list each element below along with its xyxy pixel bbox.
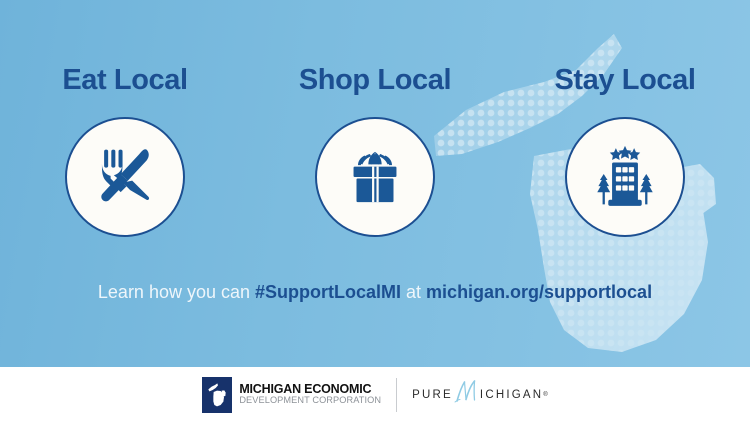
pillar-stay-local: Stay Local (500, 0, 750, 367)
badge-eat-local (65, 117, 185, 237)
tagline-hashtag: #SupportLocalMI (255, 282, 401, 302)
badge-shop-local (315, 117, 435, 237)
pure-michigan-prefix: PURE (412, 389, 453, 401)
tagline-lead: Learn how you can (98, 282, 255, 302)
pillar-title-eat-local: Eat Local (62, 66, 187, 95)
medc-wordmark: MICHIGAN ECONOMIC DEVELOPMENT CORPORATIO… (239, 383, 381, 406)
registered-trademark-icon: ® (543, 392, 547, 398)
badge-stay-local (565, 117, 685, 237)
footer-logo-bar: MICHIGAN ECONOMIC DEVELOPMENT CORPORATIO… (0, 367, 750, 422)
pillar-title-stay-local: Stay Local (554, 66, 695, 95)
pure-michigan-suffix: ICHIGAN (480, 389, 543, 401)
pure-michigan-logo: PURE ICHIGAN ® (412, 377, 548, 412)
pillar-shop-local: Shop Local (250, 0, 500, 367)
pillars-row: Eat Local (0, 0, 750, 367)
tagline-url[interactable]: michigan.org/supportlocal (426, 282, 652, 302)
hero-band: Eat Local (0, 0, 750, 367)
tagline: Learn how you can #SupportLocalMI at mic… (0, 283, 750, 301)
logo-lockup: MICHIGAN ECONOMIC DEVELOPMENT CORPORATIO… (202, 377, 547, 413)
medc-name-line2: DEVELOPMENT CORPORATION (239, 396, 381, 406)
michigan-state-shape-icon (202, 377, 232, 413)
fork-and-knife-icon (89, 141, 161, 213)
pillar-eat-local: Eat Local (0, 0, 250, 367)
gift-box-icon (338, 140, 412, 214)
hotel-building-icon (587, 139, 663, 215)
tagline-connector: at (401, 282, 426, 302)
pure-michigan-script-m-icon (451, 377, 481, 412)
campaign-graphic: Eat Local (0, 0, 750, 422)
medc-logo: MICHIGAN ECONOMIC DEVELOPMENT CORPORATIO… (202, 377, 381, 413)
logo-divider (396, 378, 397, 412)
pillar-title-shop-local: Shop Local (299, 66, 451, 95)
